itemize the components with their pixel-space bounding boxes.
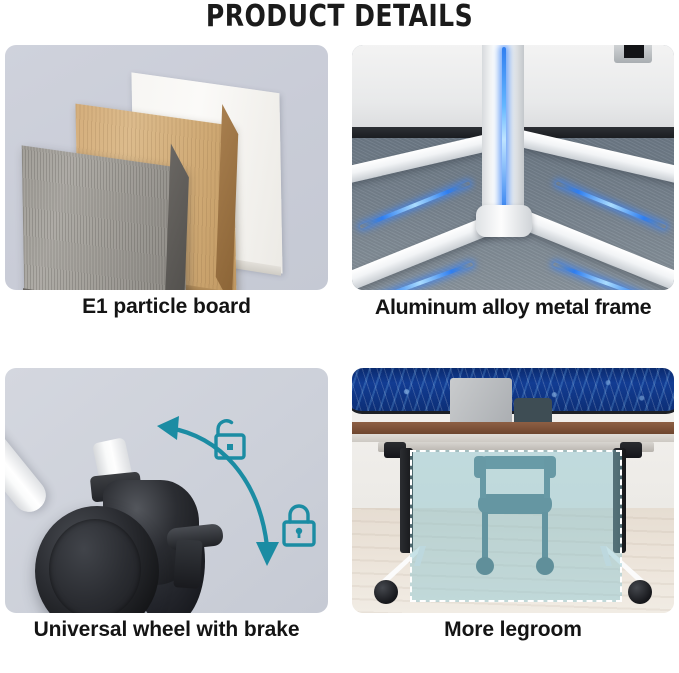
padlock-closed-icon bbox=[277, 502, 321, 550]
desk-apron bbox=[352, 434, 674, 442]
frame-hub bbox=[476, 205, 532, 237]
feature-card-e1-particle-board: E1 particle board bbox=[5, 45, 328, 330]
feature-card-aluminum-alloy-metal-frame: Aluminum alloy metal frame bbox=[352, 45, 674, 330]
desk-top-surface bbox=[352, 422, 674, 434]
page-title: PRODUCT DETAILS bbox=[24, 0, 655, 40]
ultrawide-monitor bbox=[352, 368, 674, 414]
feature-card-universal-wheel-with-brake: Universal wheel with brake bbox=[5, 368, 328, 653]
legroom-icon bbox=[352, 368, 674, 613]
caster-wheel-icon bbox=[5, 368, 328, 613]
table-leg bbox=[5, 383, 52, 519]
caster-wheel-hubcap bbox=[49, 519, 141, 613]
board-gray bbox=[22, 145, 187, 290]
desk-caster-left bbox=[374, 580, 398, 604]
desk-clip-inner bbox=[624, 45, 644, 58]
feature-caption: Aluminum alloy metal frame bbox=[344, 295, 679, 320]
feature-caption: E1 particle board bbox=[0, 295, 336, 319]
board-stack-icon bbox=[5, 45, 328, 290]
dashed-highlight-box-icon bbox=[410, 450, 622, 602]
feature-grid: E1 particle board Aluminum alloy metal f… bbox=[5, 45, 674, 670]
padlock-open-icon bbox=[207, 416, 251, 464]
feature-card-more-legroom: More legroom bbox=[352, 368, 674, 653]
feature-caption: More legroom bbox=[344, 618, 679, 642]
desk-caster-right bbox=[628, 580, 652, 604]
led-strip-column bbox=[502, 47, 506, 215]
feature-caption: Universal wheel with brake bbox=[0, 618, 336, 642]
chair-backrest-top bbox=[514, 398, 552, 424]
monitor-wallpaper bbox=[352, 368, 674, 411]
metal-frame-icon bbox=[352, 45, 674, 290]
